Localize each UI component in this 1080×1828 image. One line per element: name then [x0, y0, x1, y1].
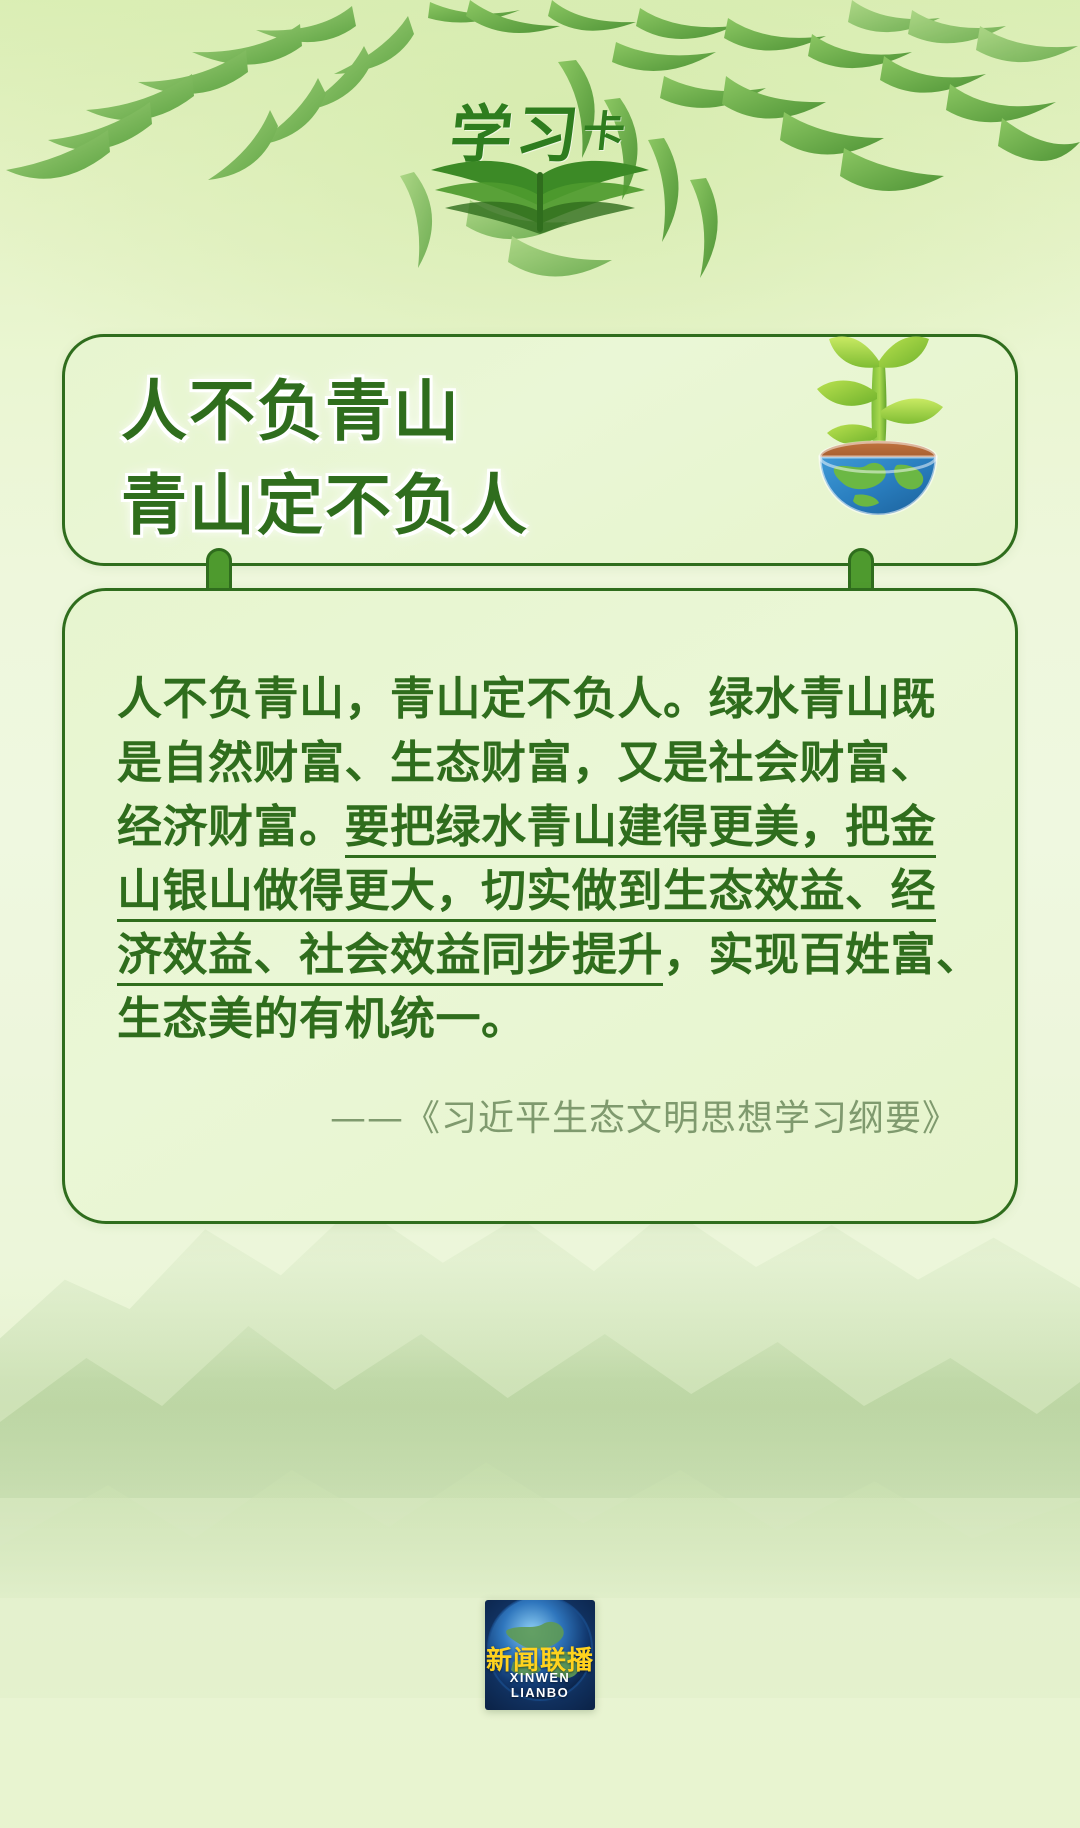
poster-root: 学习卡 人不负青山 青山定不负人: [0, 0, 1080, 1828]
quote-line: 经济财富。要把绿水青山建得更美，把金: [117, 795, 969, 859]
quote-segment-underlined: 要把绿水青山建得更美，把金: [345, 800, 937, 858]
title-line-1: 人不负青山: [121, 365, 529, 459]
logo-title-en: XINWEN LIANBO: [485, 1670, 595, 1700]
title-line-2: 青山定不负人: [121, 459, 529, 553]
quote-segment-underlined: 济效益、社会效益同步提升: [117, 928, 663, 986]
quote-line: 山银山做得更大，切实做到生态效益、经: [117, 859, 969, 923]
quote-segment-underlined: 山银山做得更大，切实做到生态效益、经: [117, 864, 936, 922]
brand-logo-suffix: 卡: [580, 107, 631, 156]
title-text-block: 人不负青山 青山定不负人: [121, 365, 529, 552]
xinwen-lianbo-logo: 新闻联播 XINWEN LIANBO: [485, 1600, 595, 1710]
quote-line: 是自然财富、生态财富，又是社会财富、: [117, 731, 969, 795]
brand-logo: 学习卡: [0, 84, 1080, 174]
quote-segment-plain: ，实现百姓富、: [663, 928, 982, 981]
title-card: 人不负青山 青山定不负人: [62, 334, 1018, 566]
quote-line: 生态美的有机统一。: [117, 987, 969, 1051]
quote-citation: ——《习近平生态文明思想学习纲要》: [330, 1089, 959, 1141]
quote-line: 济效益、社会效益同步提升，实现百姓富、: [117, 923, 969, 987]
quote-card: 人不负青山，青山定不负人。绿水青山既 是自然财富、生态财富，又是社会财富、 经济…: [62, 588, 1018, 1224]
open-book-icon: [415, 154, 665, 236]
sprout-in-globe-icon: [785, 315, 971, 515]
quote-segment-plain: 经济财富。: [117, 800, 345, 853]
quote-line: 人不负青山，青山定不负人。绿水青山既: [117, 667, 969, 731]
quote-text-block: 人不负青山，青山定不负人。绿水青山既 是自然财富、生态财富，又是社会财富、 经济…: [117, 667, 969, 1051]
